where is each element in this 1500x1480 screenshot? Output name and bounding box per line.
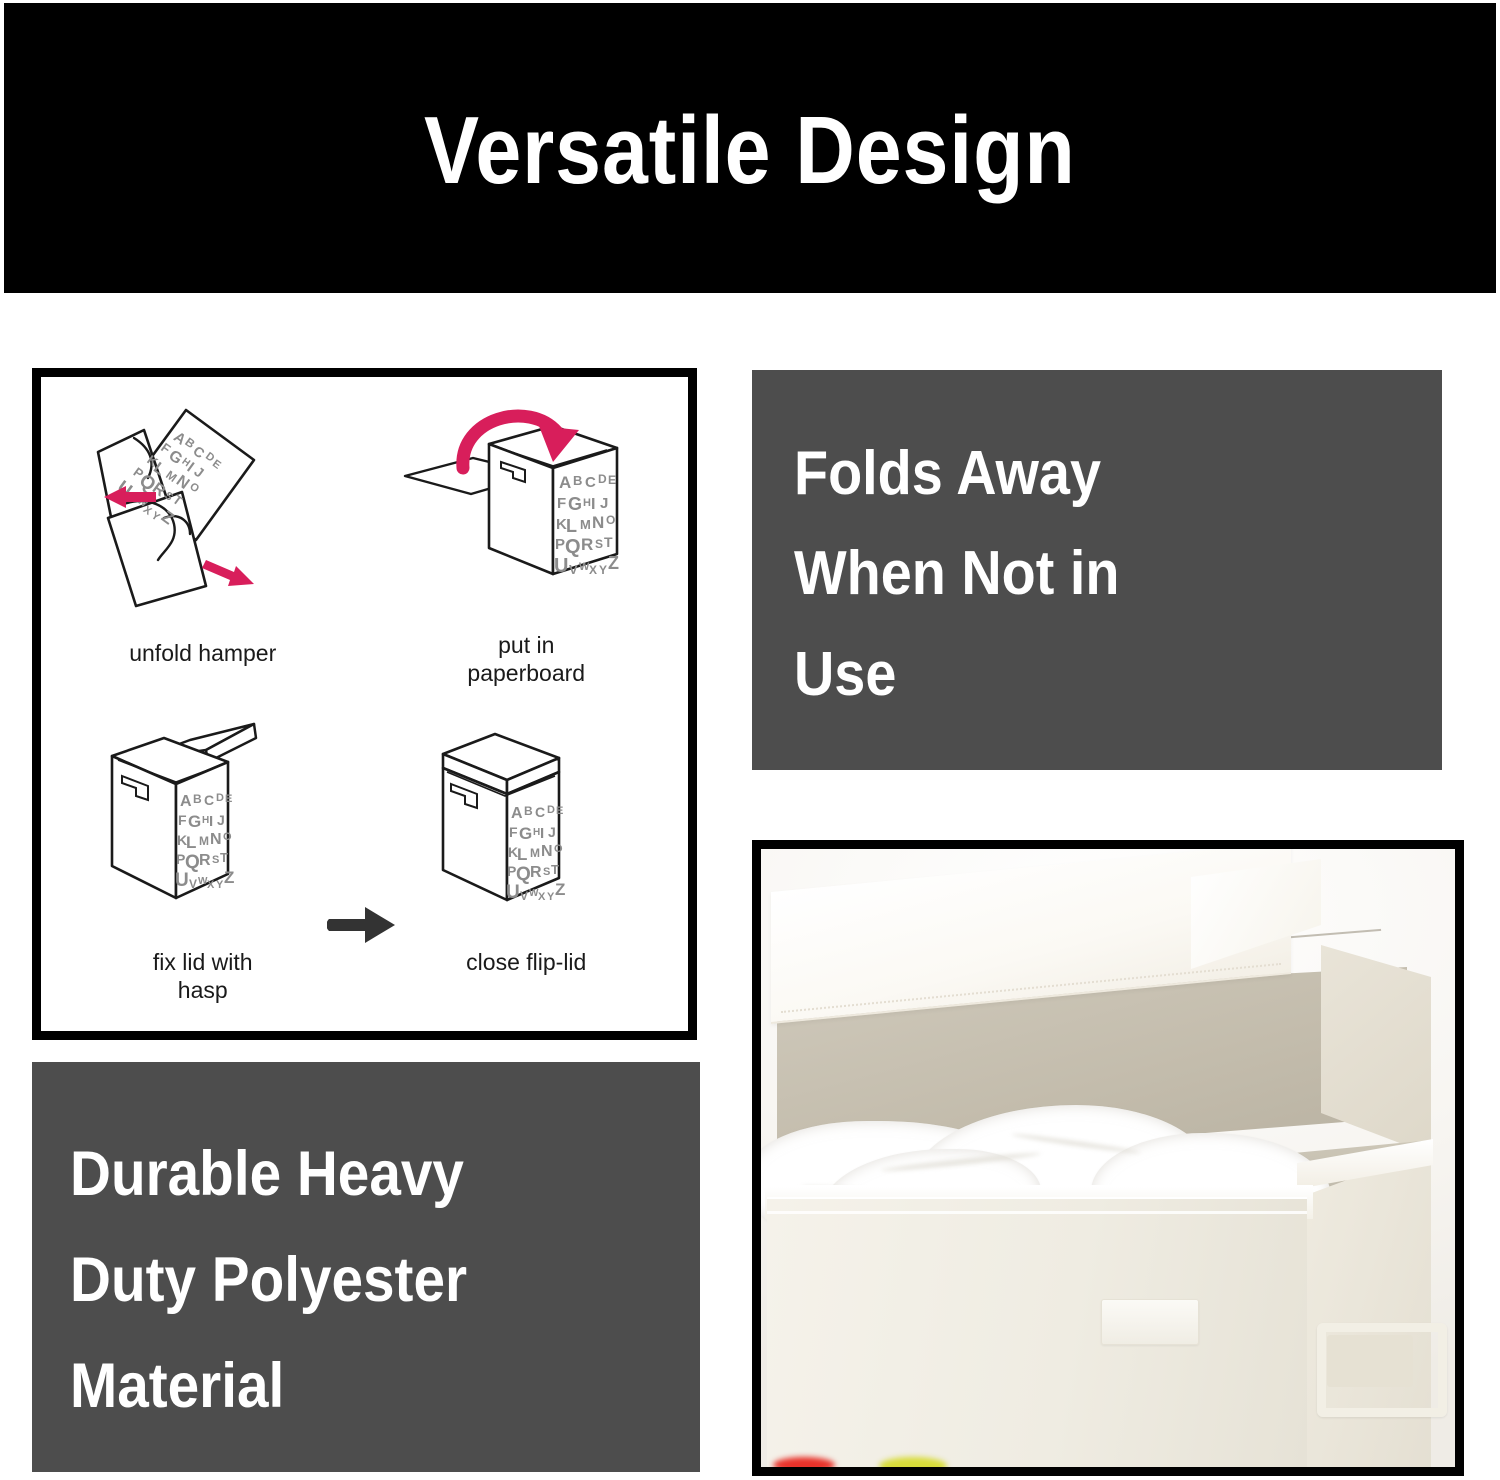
svg-text:J: J bbox=[548, 824, 556, 840]
svg-text:I: I bbox=[591, 496, 595, 513]
svg-text:D: D bbox=[598, 472, 607, 486]
svg-text:M: M bbox=[530, 846, 540, 860]
background-speck-red bbox=[773, 1457, 835, 1467]
assembly-instructions-panel: AB CD E FG HI J KL MN O PQ RS T UV WX bbox=[32, 368, 697, 1040]
instruction-step-4: AB CD E FG HI J KL MN O PQ RS T UV WX bbox=[365, 704, 689, 1031]
page-title: Versatile Design bbox=[424, 103, 1076, 199]
svg-text:Z: Z bbox=[224, 868, 234, 887]
svg-text:R: R bbox=[581, 535, 593, 554]
svg-text:B: B bbox=[524, 804, 533, 818]
svg-text:N: N bbox=[210, 831, 222, 848]
svg-text:P: P bbox=[555, 536, 565, 553]
hamper-closed-lid-icon: AB CD E FG HI J KL MN O PQ RS T UV WX bbox=[401, 718, 651, 938]
svg-text:Y: Y bbox=[547, 891, 555, 903]
svg-text:J: J bbox=[600, 495, 608, 512]
svg-text:C: C bbox=[585, 474, 596, 491]
durable-line-3: Material bbox=[70, 1334, 637, 1440]
fix-lid-with-hasp-illustration: AB CD E FG HI J KL MN O PQ RS T UV WX bbox=[41, 712, 365, 944]
svg-text:L: L bbox=[566, 516, 577, 536]
svg-text:Y: Y bbox=[599, 563, 607, 577]
svg-text:X: X bbox=[207, 879, 215, 891]
svg-text:A: A bbox=[180, 793, 192, 810]
step-1-caption: unfold hamper bbox=[129, 639, 276, 667]
svg-text:C: C bbox=[535, 804, 545, 820]
svg-text:H: H bbox=[583, 497, 591, 509]
svg-text:C: C bbox=[204, 792, 214, 808]
svg-text:E: E bbox=[608, 473, 616, 487]
step-2-caption-line2: paperboard bbox=[467, 660, 585, 686]
hamper-side-panel bbox=[1301, 1149, 1431, 1467]
folds-away-line-1: Folds Away bbox=[794, 424, 1377, 524]
put-in-paperboard-illustration: AB CD E FG HI J KL MN O PQ RS T UV WX bbox=[365, 395, 689, 627]
unfold-hamper-illustration: AB CD E FG HI J KL MN O PQ RS T UV WX bbox=[41, 395, 365, 635]
svg-text:V: V bbox=[520, 889, 528, 903]
svg-text:O: O bbox=[554, 843, 563, 855]
header-banner: Versatile Design bbox=[4, 3, 1496, 293]
svg-text:S: S bbox=[543, 866, 550, 878]
feature-panel-durable-material: Durable Heavy Duty Polyester Material bbox=[32, 1062, 700, 1472]
svg-text:Z: Z bbox=[555, 880, 565, 899]
hamper-product-photo bbox=[761, 849, 1455, 1467]
feature-panel-folds-away: Folds Away When Not in Use bbox=[752, 370, 1442, 770]
step-3-caption-line1: fix lid with bbox=[153, 949, 253, 975]
open-hamper-with-board-icon: AB CD E FG HI J KL MN O PQ RS T UV WX bbox=[401, 396, 651, 626]
svg-text:A: A bbox=[511, 805, 523, 822]
instruction-step-2: AB CD E FG HI J KL MN O PQ RS T UV WX bbox=[365, 377, 689, 704]
durable-line-2: Duty Polyester bbox=[70, 1228, 637, 1334]
svg-text:E: E bbox=[556, 805, 563, 817]
step-arrow-1 bbox=[327, 905, 397, 945]
svg-text:O: O bbox=[606, 513, 615, 527]
svg-text:O: O bbox=[223, 831, 232, 843]
svg-text:F: F bbox=[557, 495, 566, 512]
svg-text:S: S bbox=[212, 854, 219, 866]
svg-text:U: U bbox=[554, 555, 568, 577]
svg-text:R: R bbox=[199, 852, 211, 869]
svg-text:T: T bbox=[551, 862, 559, 877]
folded-hamper-icon: AB CD E FG HI J KL MN O PQ RS T UV WX bbox=[78, 400, 328, 630]
instruction-step-3: AB CD E FG HI J KL MN O PQ RS T UV WX bbox=[41, 704, 365, 1031]
svg-text:X: X bbox=[538, 891, 546, 903]
svg-text:T: T bbox=[604, 534, 613, 550]
svg-text:P: P bbox=[176, 851, 185, 867]
durable-line-1: Durable Heavy bbox=[70, 1122, 637, 1228]
close-flip-lid-illustration: AB CD E FG HI J KL MN O PQ RS T UV WX bbox=[365, 712, 689, 944]
folds-away-line-3: Use bbox=[794, 625, 1377, 725]
pink-arrow-right bbox=[202, 560, 254, 586]
svg-text:A: A bbox=[559, 473, 571, 492]
svg-text:V: V bbox=[569, 562, 578, 577]
svg-text:L: L bbox=[517, 845, 527, 864]
hamper-front-panel bbox=[767, 1197, 1307, 1467]
svg-text:B: B bbox=[193, 792, 202, 806]
svg-text:S: S bbox=[595, 537, 603, 551]
svg-text:L: L bbox=[186, 833, 196, 852]
svg-text:E: E bbox=[225, 793, 232, 805]
side-handle bbox=[1317, 1323, 1447, 1417]
folds-away-line-2: When Not in bbox=[794, 524, 1377, 624]
svg-text:V: V bbox=[189, 877, 197, 891]
svg-text:P: P bbox=[507, 863, 516, 879]
svg-text:F: F bbox=[509, 824, 518, 840]
svg-text:I: I bbox=[209, 813, 213, 830]
svg-text:X: X bbox=[589, 563, 597, 577]
svg-text:D: D bbox=[216, 792, 224, 804]
svg-text:B: B bbox=[573, 473, 582, 488]
product-photo-panel bbox=[752, 840, 1464, 1476]
svg-text:D: D bbox=[547, 804, 555, 816]
svg-text:G: G bbox=[519, 824, 532, 843]
hamper-open-lid-icon: AB CD E FG HI J KL MN O PQ RS T UV WX bbox=[78, 718, 328, 938]
svg-text:I: I bbox=[540, 825, 544, 842]
svg-text:J: J bbox=[217, 812, 225, 828]
svg-text:N: N bbox=[592, 513, 604, 532]
step-2-caption-line1: put in bbox=[498, 632, 554, 658]
svg-text:T: T bbox=[220, 850, 228, 865]
svg-text:U: U bbox=[506, 882, 520, 903]
svg-text:M: M bbox=[199, 834, 209, 848]
svg-text:Y: Y bbox=[216, 879, 224, 891]
svg-text:N: N bbox=[541, 843, 553, 860]
svg-text:G: G bbox=[188, 812, 201, 831]
step-2-caption: put in paperboard bbox=[467, 631, 585, 687]
step-4-caption: close flip-lid bbox=[466, 948, 586, 976]
svg-text:U: U bbox=[175, 870, 189, 891]
svg-text:R: R bbox=[530, 864, 542, 881]
velcro-tab bbox=[1101, 1299, 1199, 1345]
step-3-caption-line2: hasp bbox=[178, 977, 228, 1003]
svg-text:M: M bbox=[580, 517, 591, 532]
instruction-step-1: AB CD E FG HI J KL MN O PQ RS T UV WX bbox=[41, 377, 365, 704]
svg-text:F: F bbox=[178, 812, 187, 828]
svg-text:G: G bbox=[568, 494, 582, 514]
step-3-caption: fix lid with hasp bbox=[153, 948, 253, 1004]
svg-text:Z: Z bbox=[608, 553, 619, 573]
